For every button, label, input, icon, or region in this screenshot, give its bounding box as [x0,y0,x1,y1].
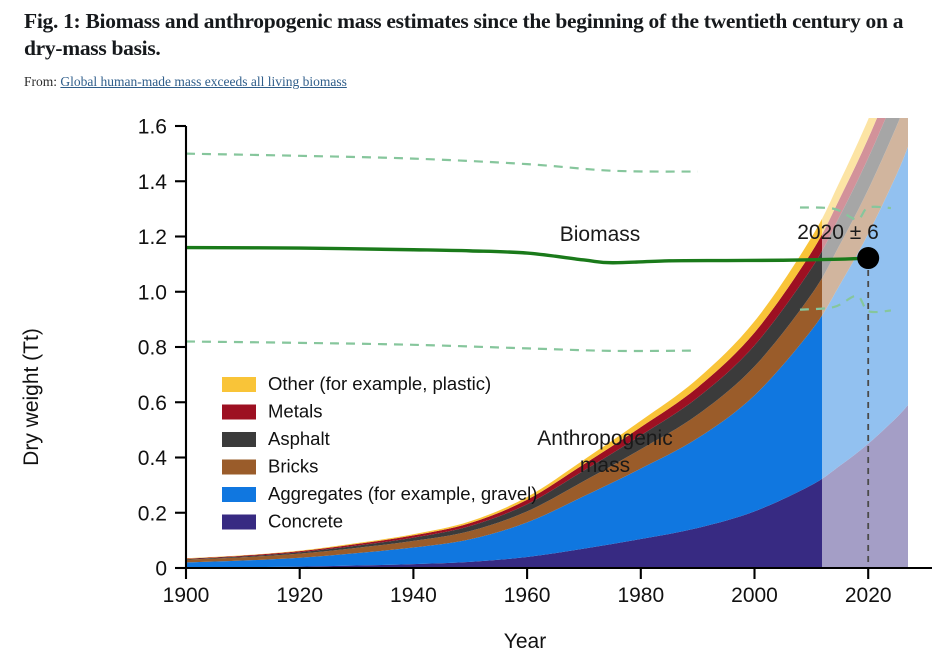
legend-label: Metals [268,401,323,422]
anthropogenic-annotation-line2: mass [580,454,630,477]
x-tick-label: 1980 [617,584,664,607]
legend-swatch [222,405,256,420]
legend-label: Aggregates (for example, gravel) [268,483,537,504]
anthropogenic-annotation-line1: Anthropogenic [537,427,672,450]
legend-swatch [222,460,256,475]
y-tick-label: 0 [155,558,167,581]
legend-label: Bricks [268,456,318,477]
x-axis-ticks: 1900192019401960198020002020 [163,568,892,607]
crossover-point-marker [857,247,879,269]
biomass-curve [186,248,868,263]
legend-swatch [222,432,256,447]
y-axis-title: Dry weight (Tt) [20,328,43,466]
x-tick-label: 1940 [390,584,437,607]
x-tick-label: 1900 [163,584,210,607]
y-tick-label: 1.4 [138,171,168,194]
figure-caption-block: Fig. 1: Biomass and anthropogenic mass e… [24,8,904,90]
biomass-lower-band-early [186,341,698,351]
chart-canvas: 00.20.40.60.81.01.21.41.6 19001920194019… [0,108,942,655]
legend-swatch [222,515,256,530]
crossover-annotation-label: 2020 ± 6 [797,221,879,244]
x-tick-label: 1960 [504,584,551,607]
legend-label: Concrete [268,511,343,532]
chart-legend: Other (for example, plastic)MetalsAsphal… [222,373,537,532]
y-axis-ticks: 00.20.40.60.81.01.21.41.6 [138,116,186,581]
y-tick-label: 1.0 [138,281,167,304]
x-tick-label: 1920 [276,584,323,607]
source-article-link[interactable]: Global human-made mass exceeds all livin… [60,74,346,89]
biomass-upper-band-early [186,154,698,172]
x-tick-label: 2000 [731,584,778,607]
chart-figure: 00.20.40.60.81.01.21.41.6 19001920194019… [0,108,942,655]
y-tick-label: 0.2 [138,502,167,525]
y-tick-label: 0.8 [138,337,167,360]
biomass-line-path [186,248,868,263]
y-tick-label: 1.2 [138,226,167,249]
y-tick-label: 0.6 [138,392,167,415]
legend-label: Other (for example, plastic) [268,373,491,394]
x-axis-title: Year [504,630,546,653]
legend-label: Asphalt [268,428,330,449]
legend-swatch [222,487,256,502]
y-tick-label: 0.4 [138,447,168,470]
biomass-annotation-label: Biomass [560,223,641,246]
legend-swatch [222,377,256,392]
y-tick-label: 1.6 [138,116,167,139]
figure-title: Fig. 1: Biomass and anthropogenic mass e… [24,8,904,62]
source-label: From: [24,74,57,89]
figure-source-line: From: Global human-made mass exceeds all… [24,74,904,90]
x-tick-label: 2020 [845,584,892,607]
